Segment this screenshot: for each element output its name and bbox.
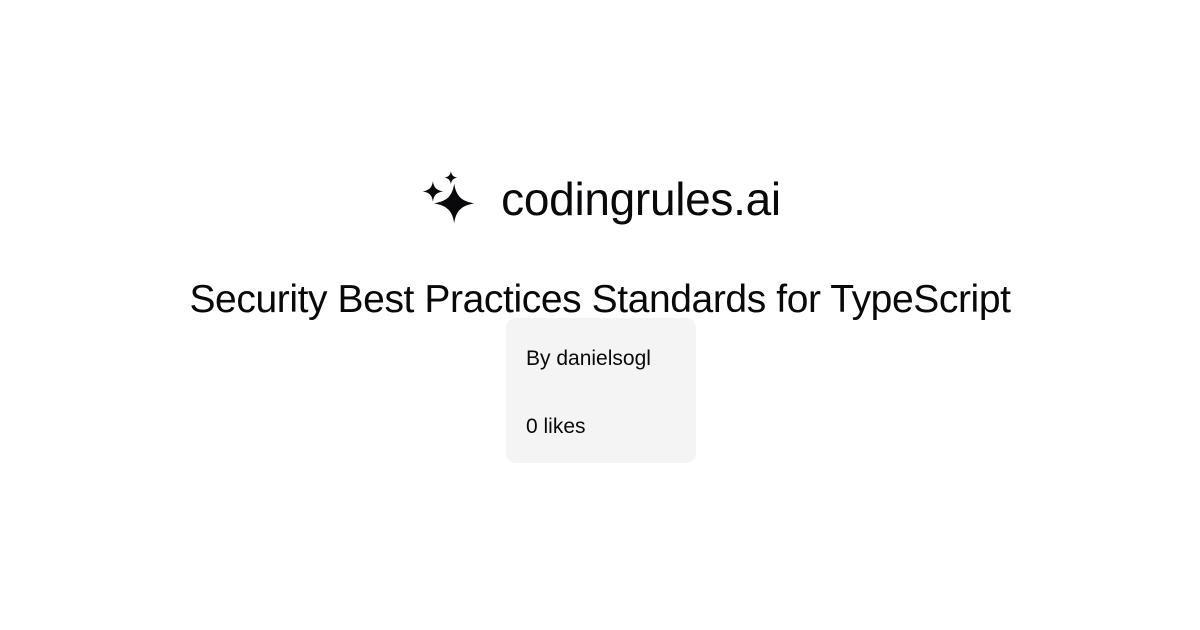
likes-count: 0 likes (526, 416, 696, 437)
og-share-card: codingrules.ai Security Best Practices S… (0, 0, 1200, 630)
brand-lockup: codingrules.ai (0, 163, 1200, 235)
author-label: By danielsogl (526, 348, 696, 369)
page-title: Security Best Practices Standards for Ty… (60, 277, 1140, 322)
brand-name: codingrules.ai (501, 176, 781, 222)
sparkles-icon (419, 168, 481, 230)
meta-card: By danielsogl 0 likes (506, 318, 696, 463)
